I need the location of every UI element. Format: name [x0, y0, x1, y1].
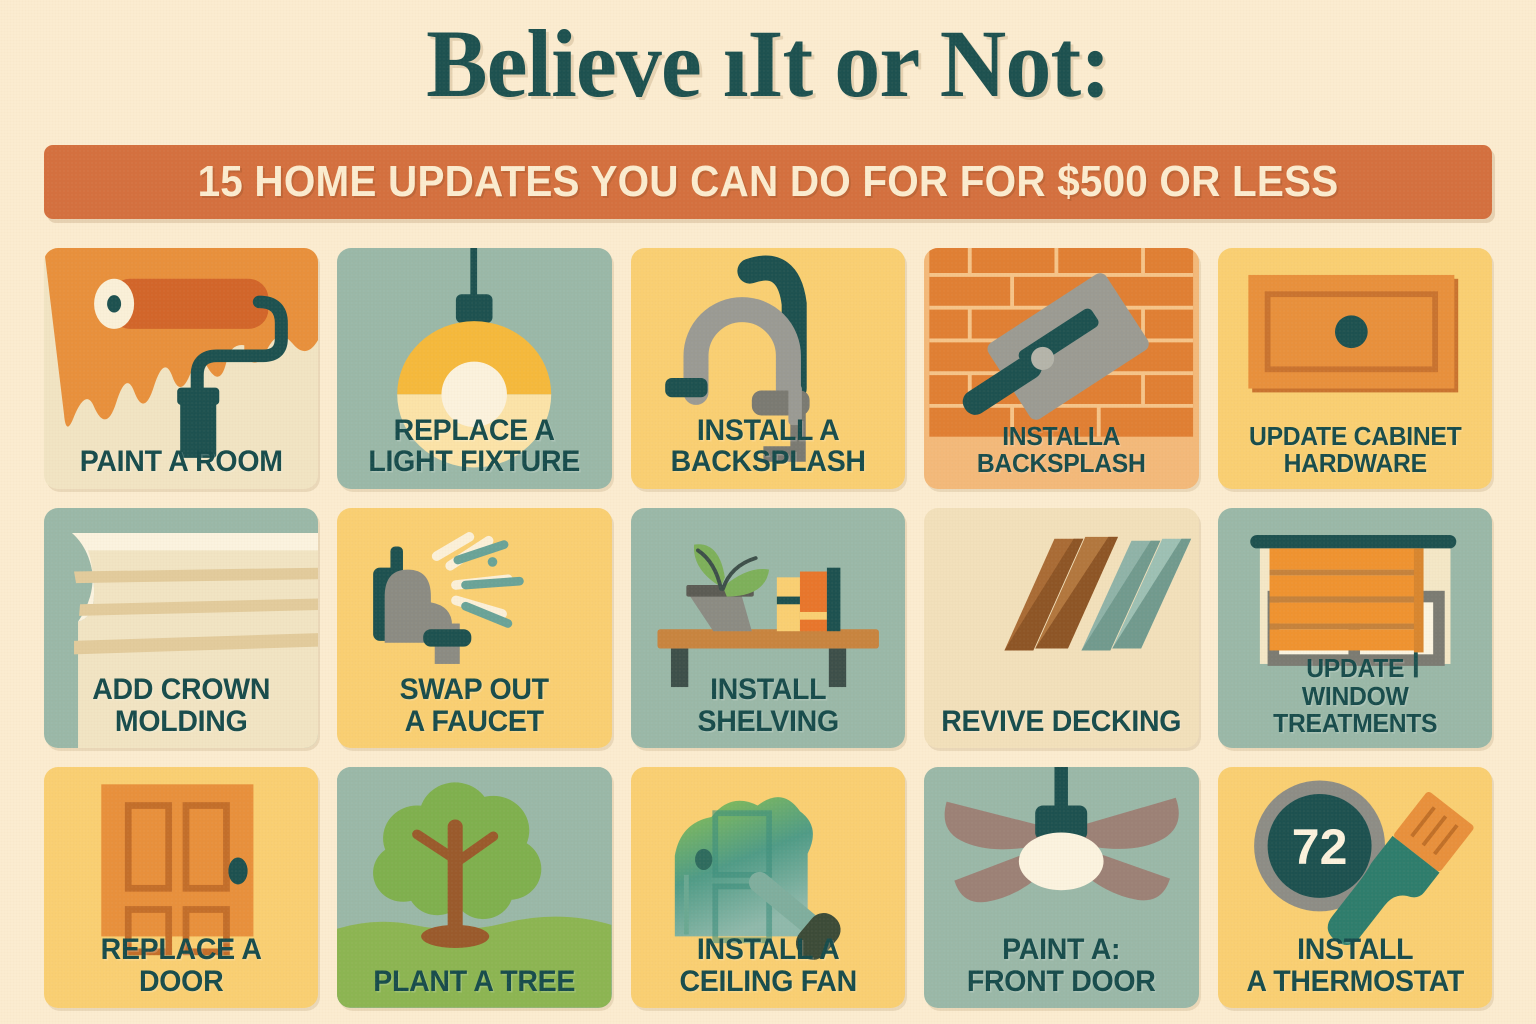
tile-label: REVIVE DECKING: [937, 706, 1186, 738]
tile-paint-front-door[interactable]: PAINT A: FRONT DOOR: [924, 767, 1198, 1008]
tile-install-backsplash-faucet[interactable]: INSTALL A BACKSPLASH: [631, 248, 905, 489]
page-title: Believe ıIt or Not:: [31, 14, 1506, 114]
thermostat-reading: 72: [1291, 820, 1347, 876]
tile-label: REPLACE A LIGHT FIXTURE: [350, 415, 599, 478]
tile-grid: PAINT A ROOM REPLACE A LIGHT FIXTURE: [44, 248, 1492, 1008]
subtitle-text: 15 HOME UPDATES YOU CAN DO FOR FOR $500 …: [198, 157, 1339, 207]
tile-revive-decking[interactable]: REVIVE DECKING: [924, 508, 1198, 749]
tile-label: UPDATE WINDOW TREATMENTS: [1230, 655, 1479, 737]
tile-label: REPLACE A DOOR: [57, 934, 306, 997]
tile-label: INSTALL A CEILING FAN: [643, 934, 892, 997]
tile-label: SWAP OUT A FAUCET: [350, 674, 599, 737]
tile-update-window-treatments[interactable]: UPDATE WINDOW TREATMENTS: [1218, 508, 1492, 749]
tile-swap-out-faucet[interactable]: SWAP OUT A FAUCET: [337, 508, 611, 749]
tile-label: ADD CROWN MOLDING: [57, 674, 306, 737]
tile-replace-a-door[interactable]: REPLACE A DOOR: [44, 767, 318, 1008]
tile-install-thermostat[interactable]: 72 INSTALL A THERMOSTAT: [1218, 767, 1492, 1008]
tile-install-shelving[interactable]: INSTALL SHELVING: [631, 508, 905, 749]
tile-label: INSTALLA BACKSPLASH: [937, 423, 1186, 478]
tile-install-ceiling-fan[interactable]: INSTALL A CEILING FAN: [631, 767, 905, 1008]
tile-installa-backsplash-brick[interactable]: INSTALLA BACKSPLASH: [924, 248, 1198, 489]
tile-label: PAINT A: FRONT DOOR: [937, 934, 1186, 997]
tile-label: INSTALL A BACKSPLASH: [643, 415, 892, 478]
tile-label: INSTALL SHELVING: [643, 674, 892, 737]
tile-label: INSTALL A THERMOSTAT: [1230, 934, 1479, 997]
tile-add-crown-molding[interactable]: ADD CROWN MOLDING: [44, 508, 318, 749]
tile-label: UPDATE CABINET HARDWARE: [1230, 423, 1479, 478]
tile-plant-a-tree[interactable]: PLANT A TREE: [337, 767, 611, 1008]
tile-label: PAINT A ROOM: [57, 446, 306, 478]
subtitle-banner: 15 HOME UPDATES YOU CAN DO FOR FOR $500 …: [44, 145, 1492, 219]
tile-paint-a-room[interactable]: PAINT A ROOM: [44, 248, 318, 489]
infographic-page: Believe ıIt or Not: 15 HOME UPDATES YOU …: [0, 0, 1536, 1024]
tile-update-cabinet-hardware[interactable]: UPDATE CABINET HARDWARE: [1218, 248, 1492, 489]
tile-replace-light-fixture[interactable]: REPLACE A LIGHT FIXTURE: [337, 248, 611, 489]
tile-label: PLANT A TREE: [350, 966, 599, 998]
